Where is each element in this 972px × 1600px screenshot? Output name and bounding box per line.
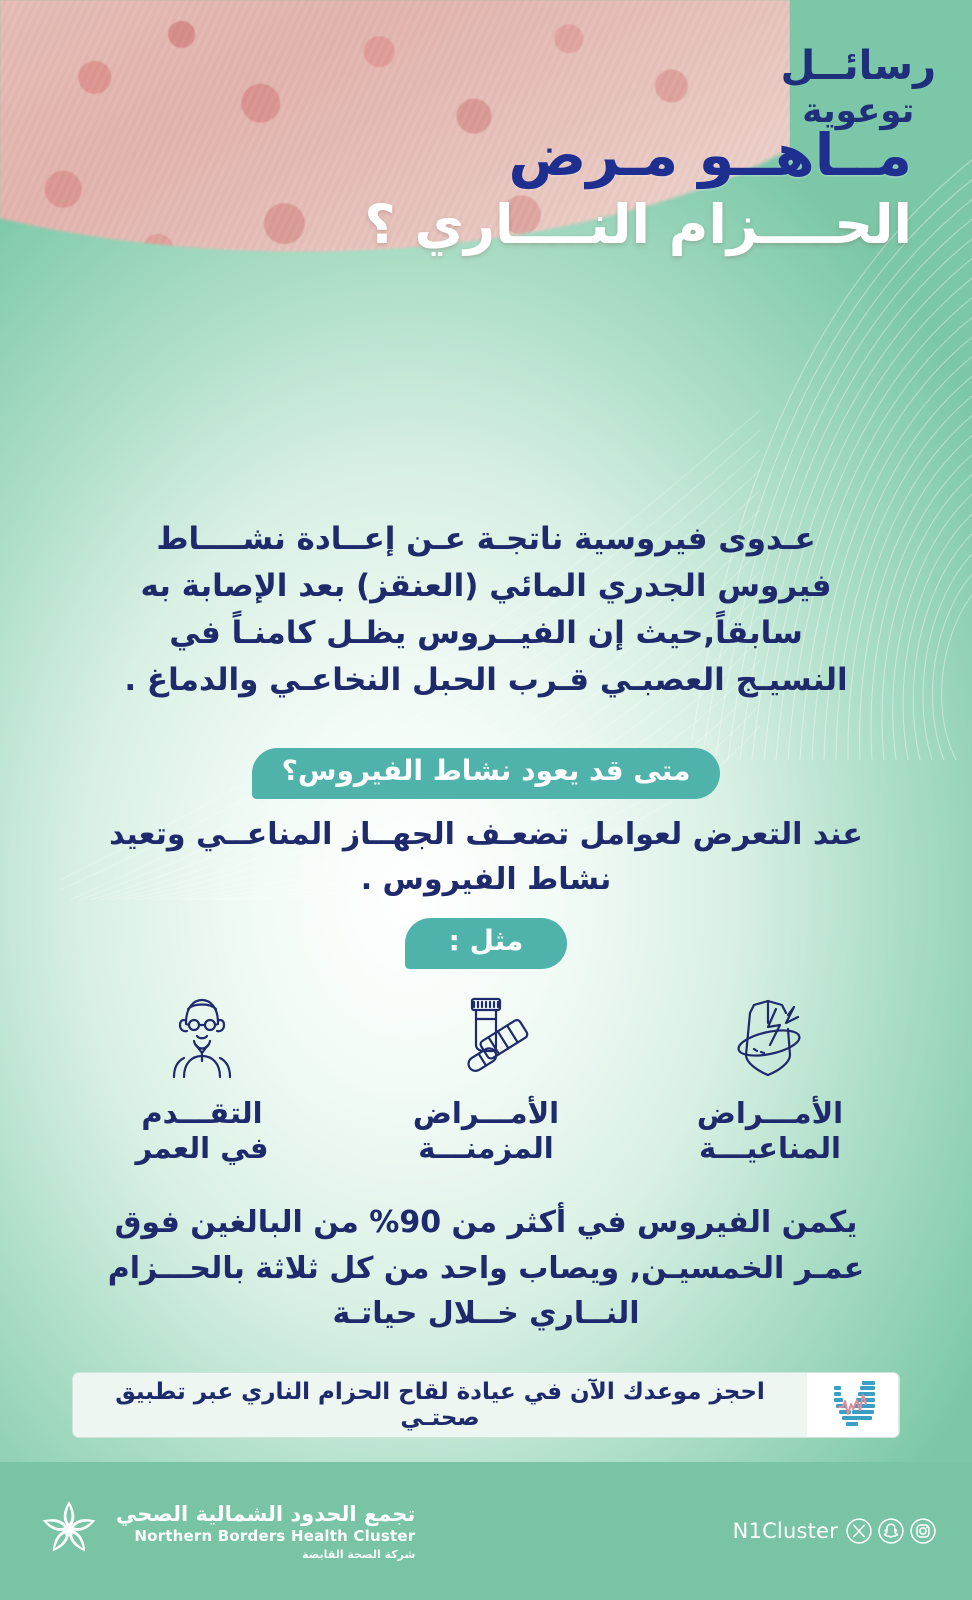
footer-bar: تجمع الحدود الشمالية الصحي Northern Bord… [0, 1462, 972, 1600]
cta-text: احجز موعدك الآن في عيادة لقاح الحزام الن… [73, 1379, 807, 1431]
risk-factor-immune-diseases: الأمـــراض المناعيـــة [645, 990, 895, 1167]
social-links[interactable]: N1Cluster [733, 1518, 936, 1544]
risk-factor-immune-label-line1: الأمـــراض [645, 1096, 895, 1131]
broken-shield-icon [645, 990, 895, 1082]
elderly-person-icon [77, 990, 327, 1082]
pill-examples-label: مثل : [405, 918, 568, 969]
health-cluster-star-logo [36, 1496, 102, 1566]
sehaty-app-logo [807, 1373, 899, 1437]
risk-factor-chronic-label-line1: الأمـــراض [361, 1096, 611, 1131]
snapchat-icon[interactable] [878, 1518, 904, 1544]
brand-subtitle: شركة الصحة القابضة [116, 1548, 415, 1562]
risk-factor-aging-label-line1: التقـــدم [77, 1096, 327, 1131]
intro-paragraph: عـدوى فيروسية ناتجـة عـن إعــادة نشــــا… [108, 516, 864, 704]
cta-book-appointment-bar[interactable]: احجز موعدك الآن في عيادة لقاح الحزام الن… [72, 1372, 900, 1438]
health-cluster-brand: تجمع الحدود الشمالية الصحي Northern Bord… [36, 1496, 415, 1566]
poster-canvas: رسائــل توعوية مــاهــو مـرض الحــــزام … [0, 0, 972, 1600]
page-title-line-2: الحــــزام النــــاري ؟ [364, 193, 912, 258]
pill-when-label: متى قد يعود نشاط الفيروس؟ [252, 748, 721, 799]
section-heading-when-virus-reactivates: متى قد يعود نشاط الفيروس؟ [0, 748, 972, 799]
risk-factor-chronic-label: الأمـــراض المزمنـــة [361, 1096, 611, 1167]
brand-text-block: تجمع الحدود الشمالية الصحي Northern Bord… [116, 1501, 415, 1562]
brand-name-english: Northern Borders Health Cluster [116, 1527, 415, 1546]
answer-paragraph: عند التعرض لعوامل تضعـف الجهــاز المناعـ… [108, 812, 864, 902]
brand-name-arabic: تجمع الحدود الشمالية الصحي [116, 1501, 415, 1527]
section-heading-examples: مثل : [0, 918, 972, 969]
risk-factor-aging-label: التقـــدم في العمر [77, 1096, 327, 1167]
statistics-paragraph: يكمن الفيروس في أكثر من 90% من البالغين … [100, 1200, 872, 1337]
risk-factor-aging-label-line2: في العمر [77, 1131, 327, 1166]
eyebrow-awareness-messages: رسائــل توعوية [781, 46, 936, 128]
risk-factor-chronic-label-line2: المزمنـــة [361, 1131, 611, 1166]
pills-bottle-icon [361, 990, 611, 1082]
risk-factor-immune-label-line2: المناعيـــة [645, 1131, 895, 1166]
social-handle: N1Cluster [733, 1519, 838, 1543]
page-title-line-1: مــاهــو مـرض [364, 122, 912, 189]
instagram-icon[interactable] [910, 1518, 936, 1544]
risk-factor-immune-label: الأمـــراض المناعيـــة [645, 1096, 895, 1167]
risk-factor-chronic-diseases: الأمـــراض المزمنـــة [361, 990, 611, 1167]
eyebrow-line-1: رسائــل [781, 46, 936, 86]
risk-factors-row: التقـــدم في العمر [60, 990, 912, 1167]
page-title: مــاهــو مـرض الحــــزام النــــاري ؟ [364, 122, 912, 257]
x-twitter-icon[interactable] [846, 1518, 872, 1544]
risk-factor-aging: التقـــدم في العمر [77, 990, 327, 1167]
